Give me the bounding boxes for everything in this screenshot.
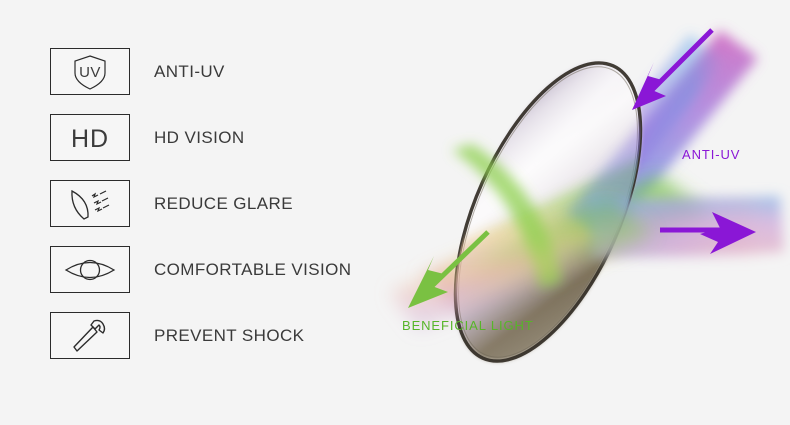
uv-shield-icon-box: UV (50, 48, 130, 95)
feature-row: HD HD VISION (50, 114, 410, 161)
hd-icon-text: HD (71, 125, 109, 153)
hd-icon: HD (63, 121, 117, 155)
hd-icon-box: HD (50, 114, 130, 161)
uv-shield-icon: UV (68, 52, 112, 92)
beneficial-light-beam-label: BENEFICIAL LIGHT (402, 318, 534, 333)
feature-row: COMFORTABLE VISION (50, 246, 410, 293)
eye-icon (62, 255, 118, 285)
feature-label-prevent-shock: PREVENT SHOCK (154, 326, 304, 346)
feature-label-hd-vision: HD VISION (154, 128, 245, 148)
infographic-canvas: UV ANTI-UV HD HD VISION (0, 0, 790, 425)
glare-lens-icon (64, 186, 116, 222)
feature-row: UV ANTI-UV (50, 48, 410, 95)
feature-row: REDUCE GLARE (50, 180, 410, 227)
eye-icon-box (50, 246, 130, 293)
feature-label-reduce-glare: REDUCE GLARE (154, 194, 293, 214)
feature-list: UV ANTI-UV HD HD VISION (50, 48, 410, 378)
hammer-icon-box (50, 312, 130, 359)
hammer-icon (67, 317, 113, 355)
glare-lens-icon-box (50, 180, 130, 227)
anti-uv-beam-label: ANTI-UV (682, 147, 740, 162)
feature-label-anti-uv: ANTI-UV (154, 62, 225, 82)
uv-icon-text: UV (79, 64, 101, 81)
feature-row: PREVENT SHOCK (50, 312, 410, 359)
feature-label-comfortable-vision: COMFORTABLE VISION (154, 260, 351, 280)
coated-lens-light-diagram: ANTI-UV BENEFICIAL LIGHT (360, 0, 790, 425)
